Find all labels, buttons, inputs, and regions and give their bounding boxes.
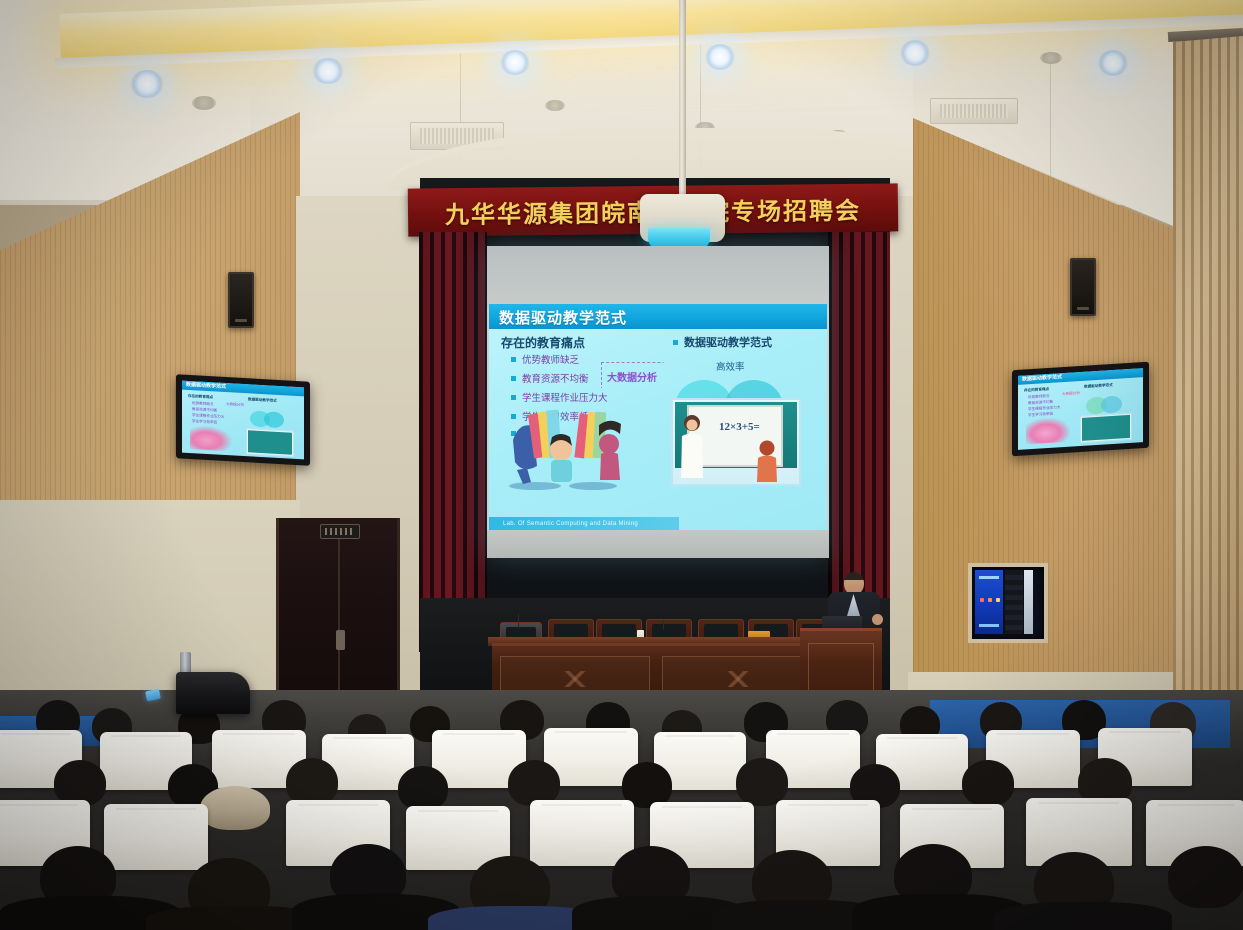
blackboard — [1082, 415, 1130, 441]
audience-head — [1168, 846, 1243, 908]
chair-cover — [104, 804, 208, 870]
table-panel-trim — [501, 671, 649, 687]
rack-led — [988, 598, 992, 602]
right-monitor-subheading: 存在的教育痛点 — [1024, 387, 1049, 394]
arrow-label: 大数据分析 — [607, 369, 657, 384]
auditorium-photo: 数据驱动教学范式 存在的教育痛点 优势教师缺乏 教育资源不均衡 学生课程作业压力… — [0, 0, 1243, 930]
bullet-square-icon — [511, 395, 516, 400]
left-monitor-arrow-label: 大数据分析 — [226, 402, 244, 408]
right-monitor-cartoon — [1026, 417, 1070, 445]
wall-speaker-left — [228, 272, 254, 328]
right-wall-monitor: 数据驱动教学范式 存在的教育痛点 优势教师缺乏 教育资源不均衡 学生课程作业压力… — [1012, 362, 1149, 457]
big-data-arrow-callout: 大数据分析 — [601, 362, 681, 390]
slide-footer-text: Lab. Of Semantic Computing and Data Mini… — [503, 521, 638, 527]
venn-circle-right — [1101, 395, 1122, 413]
right-heading-label: 数据驱动教学范式 — [684, 334, 772, 350]
rack-unit-dark — [1005, 570, 1023, 634]
table-microphone — [663, 620, 664, 630]
bullet-square-icon — [511, 376, 516, 381]
presenter-hand — [872, 614, 883, 625]
grand-piano — [176, 672, 250, 714]
audience-head — [398, 766, 448, 810]
left-monitor-screen: 数据驱动教学范式 存在的教育痛点 优势教师缺乏 教育资源不均衡 学生课程作业压力… — [182, 381, 304, 460]
right-monitor-classroom-image — [1080, 413, 1132, 443]
exit-sign — [320, 524, 360, 539]
rack-unit-light — [1024, 570, 1033, 634]
bullet-label: 优势教师缺乏 — [522, 352, 579, 366]
ceiling-downlight — [1098, 50, 1128, 76]
classroom-whiteboard-photo: 12×3+5= — [671, 398, 801, 486]
projection-screen: 数据驱动教学范式 存在的教育痛点 优势教师缺乏 教育资源不均衡 学生课程作业压力… — [487, 246, 829, 558]
screen-top-blank — [487, 246, 829, 308]
table-panel-trim — [663, 671, 813, 687]
bullet-label: 教育资源不均衡 — [522, 371, 589, 385]
audience-head — [962, 760, 1014, 806]
rack-unit-blue — [975, 570, 1003, 634]
cartoon-svg — [501, 400, 629, 492]
door-handle[interactable] — [336, 630, 345, 650]
right-monitor-arrow-label: 大数据分析 — [1062, 391, 1080, 397]
audience-head — [736, 758, 788, 806]
students-with-books-cartoon — [501, 400, 629, 492]
ceiling-downlight — [900, 40, 930, 66]
ac-vent — [930, 98, 1018, 124]
slide-footer: Lab. Of Semantic Computing and Data Mini… — [489, 517, 679, 530]
right-monitor-title: 数据驱动教学范式 — [1022, 368, 1143, 385]
stage-curtain-left — [419, 232, 487, 652]
left-wall-monitor: 数据驱动教学范式 存在的教育痛点 优势教师缺乏 教育资源不均衡 学生课程作业压力… — [176, 374, 310, 465]
whiteboard-equation: 12×3+5= — [719, 421, 760, 433]
ceiling-downlight — [130, 70, 164, 98]
student-figure — [755, 440, 779, 482]
efficiency-label: 高效率 — [716, 359, 745, 373]
table-microphone — [518, 614, 519, 628]
venn-circle-right — [264, 411, 284, 428]
slide-right-heading-row: 数据驱动教学范式 — [673, 334, 772, 350]
right-monitor-right-heading: 数据驱动教学范式 — [1084, 383, 1113, 390]
rack-led — [980, 598, 984, 602]
projected-slide: 数据驱动教学范式 存在的教育痛点 优势教师缺乏 教育资源不均衡 学生课程作业压力… — [489, 304, 827, 530]
teacher-figure — [679, 414, 705, 478]
left-monitor-classroom-image — [246, 428, 294, 457]
equipment-niche — [968, 563, 1048, 643]
bullet-square-icon — [673, 340, 678, 345]
left-monitor-subheading: 存在的教育痛点 — [188, 394, 213, 400]
slide-title: 数据驱动教学范式 — [499, 307, 627, 328]
projector-mount-pole — [679, 0, 686, 196]
side-door[interactable] — [276, 518, 400, 698]
right-monitor-screen: 数据驱动教学范式 存在的教育痛点 优势教师缺乏 教育资源不均衡 学生课程作业压力… — [1018, 368, 1143, 450]
ceiling-downlight — [705, 44, 735, 70]
screen-bottom-blank — [487, 530, 829, 558]
rack-led — [996, 598, 1000, 602]
wall-speaker-right — [1070, 258, 1096, 316]
right-monitor-title-bar: 数据驱动教学范式 — [1018, 368, 1143, 385]
slide-left-heading: 存在的教育痛点 — [501, 334, 585, 351]
ceiling-downlight — [312, 58, 344, 84]
blackboard — [248, 430, 292, 454]
ceiling-downlight-off — [545, 100, 565, 111]
audience-head-with-cap — [200, 786, 270, 830]
left-monitor-right-heading: 数据驱动教学范式 — [248, 397, 277, 404]
right-window-curtain — [1173, 36, 1243, 736]
left-monitor-cartoon — [190, 425, 232, 451]
chair-cover — [530, 800, 634, 866]
bullet-square-icon — [511, 357, 516, 362]
ceiling-downlight — [500, 50, 530, 75]
ceiling-downlight-off — [1040, 52, 1062, 64]
ceiling-downlight-off — [192, 96, 216, 110]
audience-shoulders — [994, 902, 1172, 930]
audience-head — [286, 758, 338, 806]
